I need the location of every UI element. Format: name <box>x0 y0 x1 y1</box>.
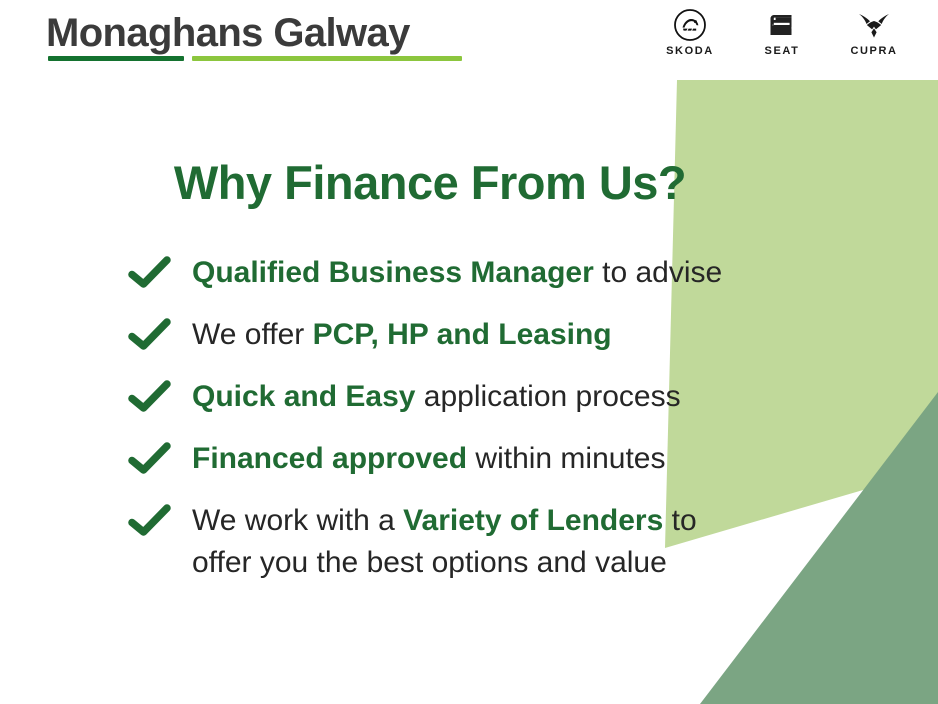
cupra-label: CUPRA <box>850 45 897 57</box>
logo-underline-dark <box>48 56 184 61</box>
benefit-emphasis: Variety of Lenders <box>403 504 663 537</box>
brand-seat[interactable]: SEAT <box>746 8 818 57</box>
logo-underline-light <box>192 56 462 61</box>
benefit-plain: We work with a <box>192 504 403 537</box>
brand-logo-group: SKODA SEAT CUPRA <box>654 8 910 57</box>
benefit-plain: application process <box>415 380 680 413</box>
slide-content: Why Finance From Us? Qualified Business … <box>0 0 938 704</box>
skoda-label: SKODA <box>666 45 714 57</box>
benefit-row: We work with a Variety of Lenders to off… <box>128 500 828 584</box>
benefit-emphasis: Financed approved <box>192 442 467 475</box>
checkmark-icon <box>128 376 174 418</box>
benefit-text: We work with a Variety of Lenders to off… <box>192 500 697 584</box>
slide-header: Monaghans Galway SKODA <box>0 0 938 80</box>
benefit-emphasis: Quick and Easy <box>192 380 415 413</box>
checkmark-icon <box>128 500 174 542</box>
logo-wordmark: Monaghans Galway <box>46 10 476 56</box>
benefit-emphasis: Qualified Business Manager <box>192 256 594 289</box>
benefit-plain: We offer <box>192 318 313 351</box>
benefit-emphasis: PCP, HP and Leasing <box>313 318 612 351</box>
seat-label: SEAT <box>765 45 800 57</box>
benefit-text: We offer PCP, HP and Leasing <box>192 314 612 356</box>
benefit-row: Financed approved within minutes <box>128 438 828 480</box>
monaghans-galway-logo[interactable]: Monaghans Galway <box>46 10 476 72</box>
checkmark-icon <box>128 252 174 294</box>
benefit-text: Qualified Business Manager to advise <box>192 252 722 294</box>
benefit-row: We offer PCP, HP and Leasing <box>128 314 828 356</box>
checkmark-icon <box>128 314 174 356</box>
benefit-plain: within minutes <box>467 442 665 475</box>
checkmark-icon <box>128 438 174 480</box>
benefit-row: Qualified Business Manager to advise <box>128 252 828 294</box>
cupra-logo <box>856 8 892 42</box>
benefit-text: Quick and Easy application process <box>192 376 681 418</box>
benefit-plain: to advise <box>594 256 722 289</box>
page-title: Why Finance From Us? <box>0 155 860 210</box>
brand-cupra[interactable]: CUPRA <box>838 8 910 57</box>
benefits-list: Qualified Business Manager to adviseWe o… <box>128 252 828 604</box>
brand-skoda[interactable]: SKODA <box>654 8 726 57</box>
benefit-text: Financed approved within minutes <box>192 438 665 480</box>
seat-logo <box>765 8 799 42</box>
benefit-row: Quick and Easy application process <box>128 376 828 418</box>
skoda-logo <box>673 8 707 42</box>
slide-canvas: Monaghans Galway SKODA <box>0 0 938 704</box>
